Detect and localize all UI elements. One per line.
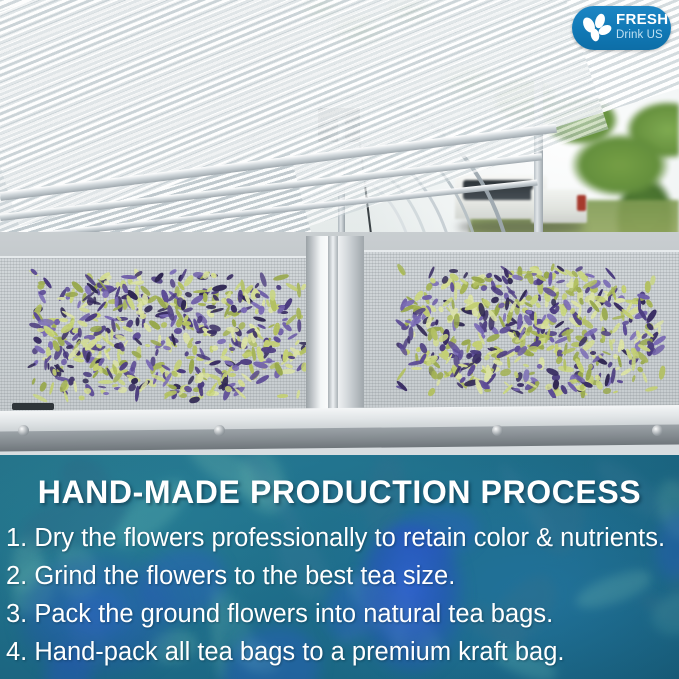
- product-infographic-card: FRESH Drink US HAND-MADE PRODUCTION PROC…: [0, 0, 679, 679]
- dried-petal: [168, 268, 177, 275]
- dried-petal: [614, 366, 620, 371]
- logo-line-fresh: FRESH: [616, 11, 668, 28]
- dried-petal: [523, 363, 530, 368]
- dried-petal: [187, 358, 195, 374]
- dried-petal: [500, 369, 512, 377]
- dried-petal: [395, 367, 406, 381]
- dried-petal: [556, 279, 566, 284]
- dried-petal: [454, 287, 458, 301]
- dried-petal: [430, 370, 438, 380]
- dried-petal: [231, 304, 238, 313]
- dried-petal: [590, 350, 597, 355]
- dried-petal: [118, 387, 127, 393]
- dried-petal: [612, 390, 617, 394]
- page-title: HAND-MADE PRODUCTION PROCESS: [0, 474, 679, 511]
- dried-petal: [631, 374, 636, 382]
- table-bolt: [18, 425, 29, 436]
- dried-petal: [103, 392, 109, 395]
- dried-petal: [601, 307, 608, 321]
- truck-taillight: [577, 195, 586, 211]
- dried-petal: [143, 304, 153, 313]
- dried-petal: [547, 272, 552, 287]
- dried-petal: [622, 285, 627, 293]
- dried-petal: [622, 324, 627, 337]
- flower-pile-right: [372, 258, 674, 398]
- dried-petal: [522, 369, 530, 382]
- dried-petal: [649, 275, 657, 286]
- dried-petal: [507, 356, 510, 368]
- dried-petal: [253, 315, 267, 323]
- dried-petal: [435, 319, 440, 325]
- dried-petal: [645, 299, 653, 309]
- table-bolt: [214, 425, 225, 436]
- dried-petal: [129, 360, 138, 372]
- dried-petal: [32, 335, 42, 345]
- dried-petal: [616, 379, 622, 383]
- dried-petal: [48, 382, 54, 395]
- dried-petal: [485, 333, 500, 344]
- dried-petal: [186, 356, 195, 359]
- dried-petal: [577, 306, 582, 317]
- dried-petal: [277, 394, 288, 398]
- dried-petal: [155, 349, 159, 357]
- dried-petal: [97, 380, 112, 384]
- dried-petal: [285, 314, 297, 326]
- dried-petal: [139, 380, 149, 391]
- dried-petal: [135, 317, 140, 326]
- dried-petal: [77, 328, 81, 338]
- flower-petals-icon: [581, 13, 613, 44]
- dried-petal: [603, 387, 611, 393]
- dried-petal: [210, 272, 217, 279]
- logo-line-drink-us: Drink US: [616, 28, 668, 42]
- process-step: 4. Hand-pack all tea bags to a premium k…: [6, 633, 679, 671]
- dried-petal: [226, 273, 235, 281]
- dried-petal: [484, 388, 491, 392]
- dried-petal: [161, 321, 168, 327]
- dried-petal: [644, 386, 657, 393]
- dried-petal: [184, 290, 192, 297]
- dried-petal: [121, 274, 137, 279]
- dried-petal: [31, 377, 36, 384]
- dried-petal: [275, 285, 281, 291]
- dried-petal: [211, 284, 227, 292]
- process-step-list: 1. Dry the flowers professionally to ret…: [6, 519, 679, 671]
- dried-petal: [217, 338, 227, 345]
- dried-petal: [296, 390, 301, 399]
- dried-petal: [73, 380, 78, 393]
- table-vent-slot: [12, 403, 54, 410]
- flower-pile-left: [8, 262, 320, 404]
- dried-petal: [228, 373, 236, 377]
- table-bolt: [492, 425, 503, 436]
- dried-petal: [257, 305, 266, 316]
- dried-petal: [579, 347, 590, 360]
- dried-petal: [408, 326, 414, 340]
- dried-petal: [605, 266, 617, 279]
- dried-petal: [145, 343, 151, 348]
- dried-petal: [269, 289, 276, 301]
- dried-petal: [563, 359, 566, 371]
- dried-petal: [513, 356, 522, 364]
- dried-petal: [594, 379, 603, 391]
- dried-petal: [480, 284, 488, 292]
- dried-petal: [516, 382, 524, 387]
- dried-petal: [57, 297, 65, 300]
- dried-petal: [195, 340, 201, 344]
- dried-petal: [411, 367, 422, 370]
- process-step: 2. Grind the flowers to the best tea siz…: [6, 557, 679, 595]
- dried-petal: [273, 273, 289, 281]
- dried-petal: [435, 378, 441, 386]
- fresh-drink-us-logo[interactable]: FRESH Drink US: [572, 6, 671, 50]
- dried-petal: [38, 381, 48, 392]
- dried-petal: [465, 353, 472, 360]
- dried-petal: [239, 358, 252, 365]
- dried-petal: [422, 295, 432, 300]
- dried-petal: [601, 278, 611, 289]
- process-step: 1. Dry the flowers professionally to ret…: [6, 519, 679, 557]
- dried-petal: [67, 365, 75, 370]
- dried-petal: [82, 370, 92, 377]
- dried-petal: [78, 395, 85, 401]
- logo-wordmark: FRESH Drink US: [616, 11, 668, 47]
- process-step: 3. Pack the ground flowers into natural …: [6, 595, 679, 633]
- dried-petal: [534, 301, 541, 308]
- dried-petal: [462, 271, 468, 278]
- dried-petal: [297, 320, 301, 333]
- dried-petal: [39, 290, 46, 295]
- dried-petal: [554, 305, 560, 313]
- dried-petal: [169, 279, 176, 289]
- dried-petal: [174, 328, 182, 335]
- dried-petal: [287, 332, 298, 340]
- greenhouse-flower-drying-photo: [0, 0, 679, 455]
- dried-petal: [620, 367, 633, 376]
- dried-petal: [122, 325, 134, 334]
- center-divider-rail: [306, 236, 364, 422]
- dried-petal: [658, 366, 667, 381]
- dried-petal: [182, 384, 192, 393]
- table-bolt: [652, 425, 663, 436]
- dried-petal: [65, 292, 78, 297]
- dried-petal: [259, 271, 267, 286]
- dried-petal: [439, 306, 445, 313]
- dried-petal: [642, 371, 649, 383]
- dried-petal: [528, 346, 538, 351]
- dried-petal: [426, 387, 437, 398]
